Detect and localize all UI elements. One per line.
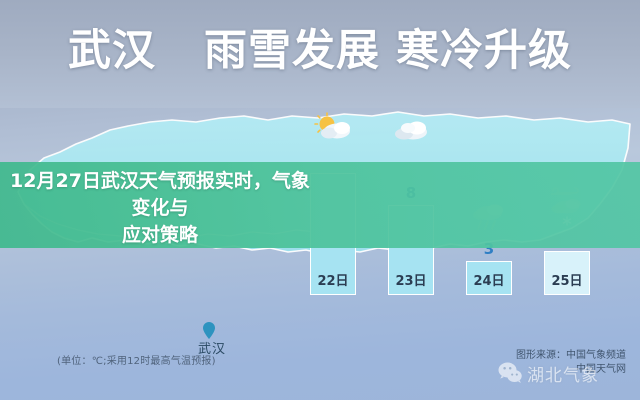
wechat-watermark-text: 湖北气象 — [527, 361, 599, 386]
unit-footnote: (单位：℃;采用12时最高气温预报) — [57, 352, 216, 367]
cloudy-icon — [389, 113, 433, 145]
header-headline: 雨雪发展 寒冷升级 — [204, 26, 572, 76]
chart-date-3: 25日 — [541, 270, 593, 289]
overlay-title-line2: 应对策略 — [10, 222, 310, 249]
header-band: 武汉雨雪发展 寒冷升级 — [0, 0, 640, 108]
map-pin-icon — [203, 322, 215, 339]
overlay-title: 12月27日武汉天气预报实时，气象变化与 应对策略 — [0, 168, 320, 249]
sun-behind-cloud-icon — [311, 111, 355, 143]
chart-date-1: 23日 — [385, 270, 437, 289]
chart-date-0: 22日 — [307, 270, 359, 289]
weather-graphic: 武汉雨雪发展 寒冷升级 武汉 — [0, 0, 640, 400]
wechat-icon — [497, 360, 523, 386]
header-title: 武汉雨雪发展 寒冷升级 — [0, 16, 640, 78]
header-city: 武汉 — [68, 26, 156, 76]
chart-date-2: 24日 — [463, 270, 515, 289]
wechat-watermark: 湖北气象 — [497, 360, 599, 386]
overlay-title-line1: 12月27日武汉天气预报实时，气象变化与 — [10, 168, 310, 222]
